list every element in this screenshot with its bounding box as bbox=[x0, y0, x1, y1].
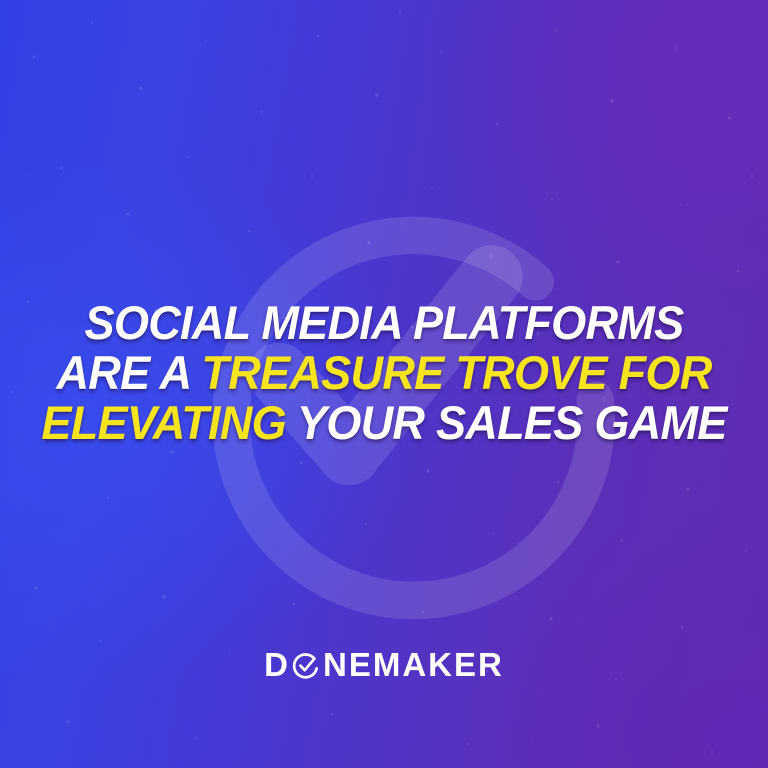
headline-seg-highlight: TREASURE TROVE FOR bbox=[201, 346, 711, 399]
circle-check-icon bbox=[291, 651, 321, 681]
brand-logo: D NEMAKER bbox=[0, 648, 768, 681]
headline-line-2: ARE A TREASURE TROVE FOR bbox=[36, 348, 731, 398]
logo-prefix: D bbox=[264, 648, 290, 681]
headline-seg-white: SOCIAL MEDIA PLATFORMS bbox=[85, 296, 684, 349]
logo-suffix: NEMAKER bbox=[323, 648, 504, 681]
headline-seg-white: YOUR SALES GAME bbox=[286, 396, 727, 449]
headline-line-3: ELEVATING YOUR SALES GAME bbox=[36, 398, 731, 448]
headline-seg-white: ARE A bbox=[56, 346, 201, 399]
headline-line-1: SOCIAL MEDIA PLATFORMS bbox=[36, 298, 731, 348]
headline: SOCIAL MEDIA PLATFORMS ARE A TREASURE TR… bbox=[0, 298, 768, 448]
social-media-poster: SOCIAL MEDIA PLATFORMS ARE A TREASURE TR… bbox=[0, 0, 768, 768]
headline-seg-highlight: ELEVATING bbox=[41, 396, 286, 449]
